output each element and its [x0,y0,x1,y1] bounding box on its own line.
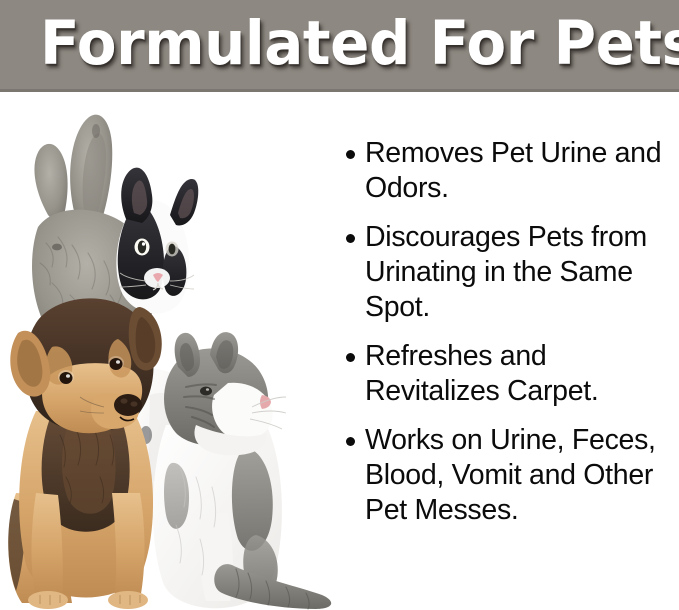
list-item: Discourages Pets from Urinating in the S… [341,220,679,325]
pets-illustration [0,95,340,610]
bullet-dot-icon [346,150,355,159]
header-banner: Formulated For Pets [0,0,679,92]
pets-photo [0,95,340,610]
list-item-label: Removes Pet Urine and Odors. [365,137,661,204]
bullet-dot-icon [346,234,355,243]
list-item-label: Refreshes and Revitalizes Carpet. [365,340,598,407]
bullet-dot-icon [346,437,355,446]
page-title: Formulated For Pets [40,5,679,83]
list-item: Removes Pet Urine and Odors. [341,136,679,206]
puppy-figure [8,298,162,609]
list-item: Works on Urine, Feces, Blood, Vomit and … [341,423,679,528]
list-item: Refreshes and Revitalizes Carpet. [341,339,679,409]
pet-product-feature-panel: Formulated For Pets [0,0,679,610]
benefits-list: Removes Pet Urine and Odors. Discourages… [341,136,679,528]
list-item-label: Discourages Pets from Urinating in the S… [365,221,647,323]
bullet-dot-icon [346,353,355,362]
list-item-label: Works on Urine, Feces, Blood, Vomit and … [365,424,656,526]
